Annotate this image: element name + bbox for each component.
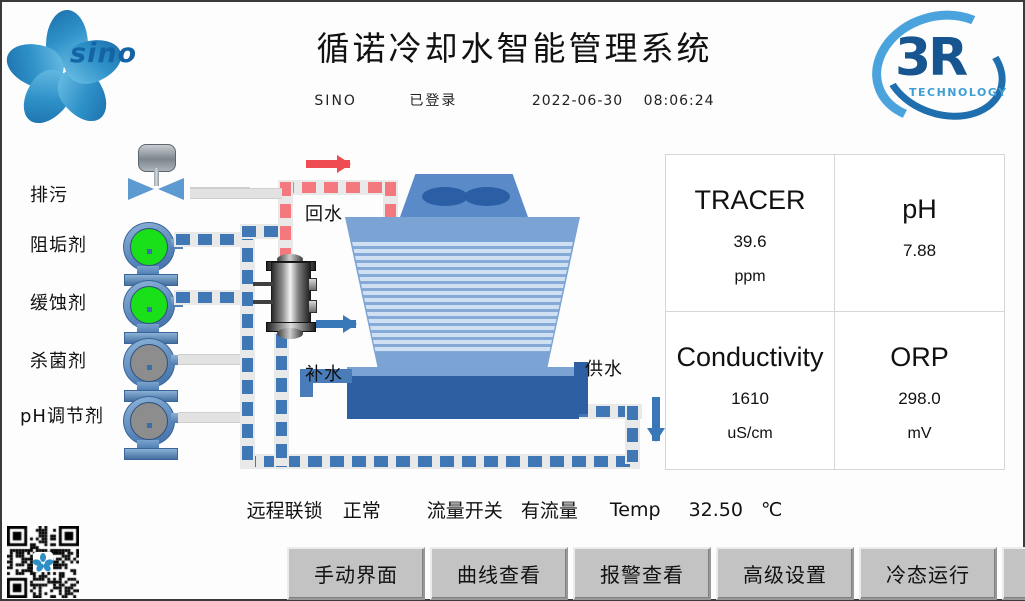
reading-card-ph[interactable]: pH 7.88 [835,155,1004,312]
3r-logo-text: 3R [895,28,965,88]
reading-card-orp[interactable]: ORP 298.0 mV [835,312,1004,469]
remote-interlock-value: 正常 [343,496,381,523]
trend-view-button[interactable]: 曲线查看 [430,547,568,600]
return-pipe-right-flow [385,182,396,218]
pump-status-indicator [130,286,168,324]
user-name: SINO [314,93,357,109]
exchanger-bottom-dome-icon [277,328,303,339]
flow-switch-value: 有流量 [521,496,578,523]
exchanger-port-lower [308,300,317,313]
status-bar: 远程联锁 正常 流量开关 有流量 Temp 32.50 ℃ [2,496,1025,523]
label-makeup-water: 补水 [305,360,343,386]
system-date: 2022-06-30 [532,93,623,109]
pump-status-indicator [130,228,168,266]
fan-blade-right-icon [464,187,510,206]
measurements-panel: TRACER 39.6 ppm pH 7.88 Conductivity 161… [665,154,1005,470]
3r-technology-logo: 3R TECHNOLOGY [865,6,1015,110]
return-pipe-top-flow [280,182,396,193]
supply-flow-arrow [652,397,660,441]
advanced-settings-button[interactable]: 高级设置 [716,547,854,600]
dosing-label-ph-adjuster: pH调节剂 [20,402,104,428]
alarm-view-button[interactable]: 报警查看 [573,547,711,600]
dosing-label-antiscalant: 阻垢剂 [30,231,87,257]
button-bar: 手动界面 曲线查看 报警查看 高级设置 冷态运行 退出登录 [287,547,1025,600]
valve-body-right-icon [158,178,184,200]
reading-value: 1610 [731,389,769,409]
makeup-flow-arrow [316,320,356,328]
flow-switch-label: 流量开关 [427,496,503,523]
ph-adjuster-pipe [178,412,248,423]
temp-value: 32.50 [689,499,743,521]
exchanger-shell-icon [271,262,311,330]
reading-name: ORP [890,342,949,373]
pump-status-indicator [130,402,168,440]
reading-name: pH [902,194,937,225]
fan-blade-left-icon [422,187,468,206]
3r-logo-subtext: TECHNOLOGY [909,86,1008,99]
biocide-pipe [178,354,248,365]
loop-left-down-flow [242,424,253,467]
label-supply-water: 供水 [585,355,623,381]
blowdown-valve[interactable] [124,144,194,200]
dosing-pump-biocide[interactable] [123,338,179,400]
dosing-pump-corrosion-inhibitor[interactable] [123,280,179,342]
temp-unit: ℃ [761,499,782,521]
dosing-pump-antiscalant[interactable] [123,222,179,284]
cold-start-button[interactable]: 冷态运行 [859,547,997,600]
reading-unit: ppm [734,268,765,286]
reading-value: 39.6 [733,232,766,252]
return-flow-arrow [306,160,350,168]
loop-bottom-flow [242,456,638,467]
supply-down-flow [627,406,638,462]
reading-unit: mV [908,425,932,443]
system-time: 08:06:24 [644,93,715,109]
dosing-pump-ph-adjuster[interactable] [123,396,179,458]
remote-interlock-label: 远程联锁 [247,496,323,523]
label-return-water: 回水 [305,200,343,226]
pump-status-indicator [130,344,168,382]
reading-card-tracer[interactable]: TRACER 39.6 ppm [666,155,835,312]
reading-name: Conductivity [676,342,823,373]
reading-name: TRACER [694,185,805,216]
inhibitor-pipe-flow [176,292,250,303]
valve-body-left-icon [128,178,154,200]
dosing-label-blowdown: 排污 [30,181,68,207]
reading-unit: uS/cm [727,425,772,443]
pump-base-icon [124,448,178,460]
application-window: sino 循诺冷却水智能管理系统 SINO 已登录 2022-06-30 08:… [0,0,1025,601]
reading-value: 298.0 [898,389,941,409]
exchanger-port-upper [308,278,317,291]
cooling-tower-basin-lip [347,367,579,376]
dosing-label-biocide: 杀菌剂 [30,347,87,373]
heat-exchanger[interactable] [265,252,315,338]
loop-hx-down-flow [276,334,287,467]
loop-left-flow [242,226,253,434]
exchanger-nozzle-left-upper [253,282,273,286]
return-inlet-pipe [190,188,282,199]
cooling-tower-fill-media [345,242,580,352]
login-state: 已登录 [409,90,457,110]
antiscalant-pipe-flow [176,234,250,245]
logout-button[interactable]: 退出登录 [1002,547,1025,600]
exchanger-nozzle-left-lower [253,300,273,304]
qr-center-logo [33,552,53,572]
qr-code[interactable] [7,526,79,598]
reading-value: 7.88 [903,241,936,261]
temp-label: Temp [610,499,661,521]
dosing-label-corrosion-inhibitor: 缓蚀剂 [30,289,87,315]
reading-card-conductivity[interactable]: Conductivity 1610 uS/cm [666,312,835,469]
manual-interface-button[interactable]: 手动界面 [287,547,425,600]
